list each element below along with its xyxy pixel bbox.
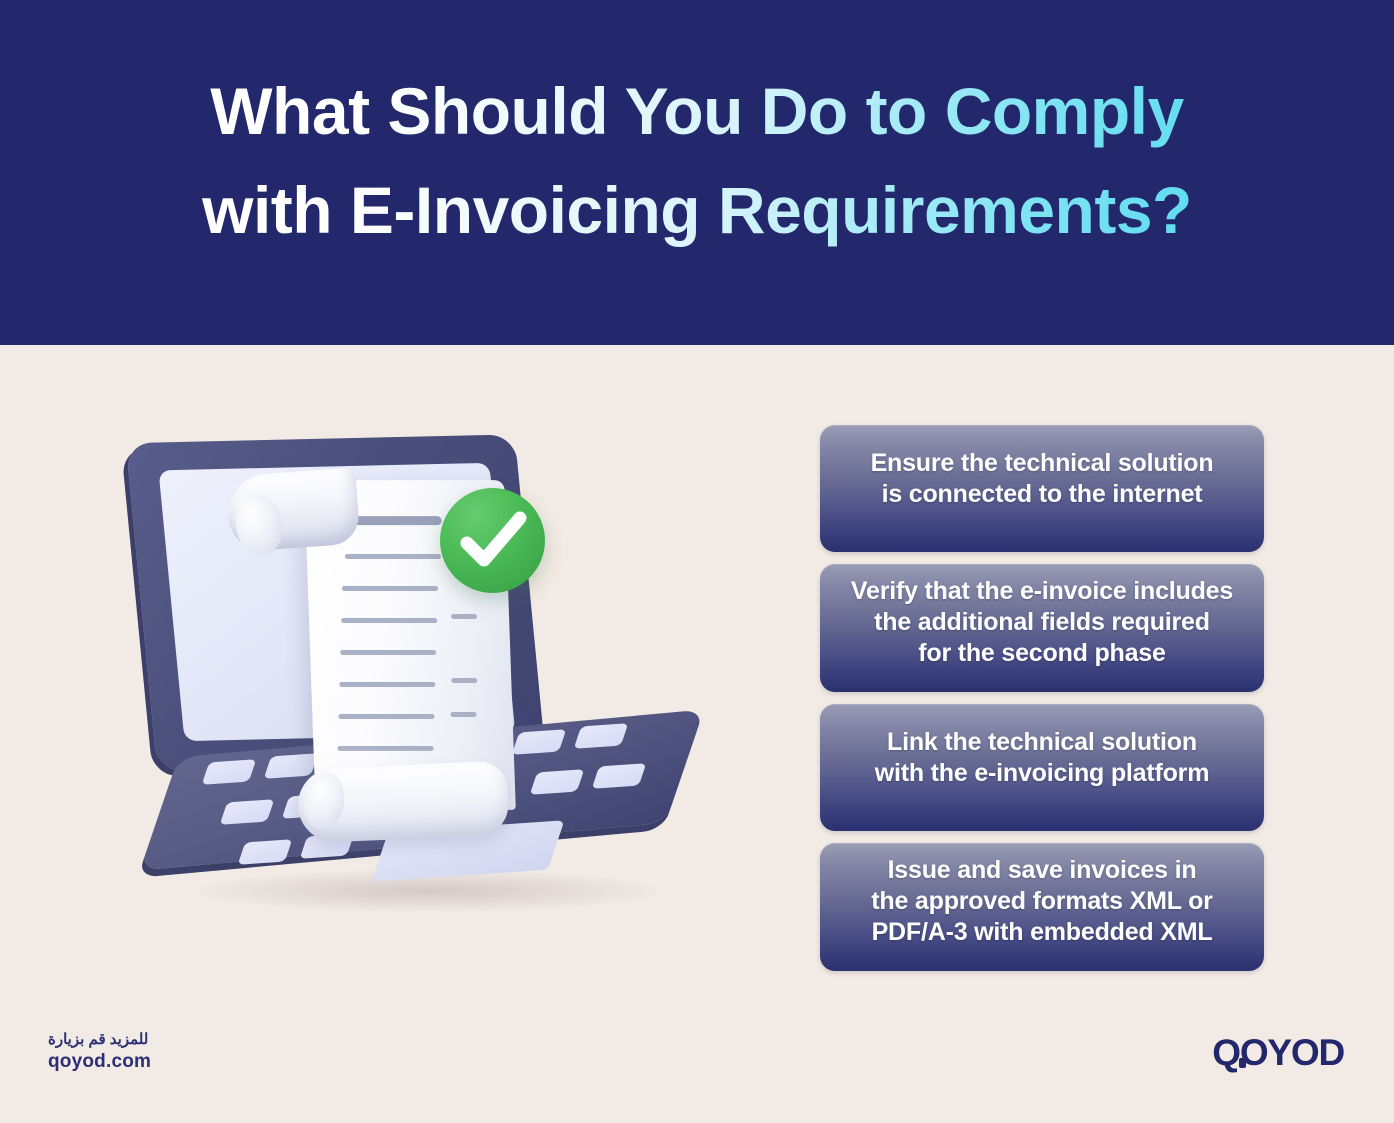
qoyod-logo-text: QOYOD	[1212, 1032, 1344, 1074]
check-mark-icon	[440, 488, 545, 593]
invoice-line	[340, 650, 436, 655]
qoyod-logo: QOYOD	[1212, 1032, 1344, 1074]
step-card-4[interactable]: Issue and save invoices in the approved …	[820, 843, 1264, 971]
invoice-line	[353, 516, 441, 525]
step-card-3-label: Link the technical solution with the e-i…	[859, 727, 1225, 789]
invoice-line	[345, 554, 441, 559]
invoice-line	[451, 614, 477, 619]
invoice-line	[337, 746, 433, 751]
step-card-4-label: Issue and save invoices in the approved …	[855, 855, 1228, 948]
qoyod-logo-mark	[1239, 1058, 1246, 1068]
step-card-3[interactable]: Link the technical solution with the e-i…	[820, 704, 1264, 831]
invoice-line	[338, 714, 434, 719]
keyboard-key	[238, 839, 293, 865]
laptop-invoice-illustration	[120, 420, 740, 960]
invoice-line	[451, 678, 477, 683]
invoice-line	[341, 618, 437, 623]
steps-list: Ensure the technical solution is connect…	[820, 425, 1264, 983]
invoice-line	[339, 682, 435, 687]
footer-visit-note: للمزيد قم بزيارة qoyod.com	[48, 1030, 151, 1073]
invoice-line	[450, 712, 476, 717]
footer-arabic-note: للمزيد قم بزيارة	[48, 1030, 151, 1048]
page-title: What Should You Do to Comply with E-Invo…	[0, 62, 1394, 260]
step-card-1[interactable]: Ensure the technical solution is connect…	[820, 425, 1264, 552]
footer-website-url[interactable]: qoyod.com	[48, 1051, 151, 1073]
step-card-1-label: Ensure the technical solution is connect…	[855, 448, 1230, 510]
step-card-2[interactable]: Verify that the e-invoice includes the a…	[820, 564, 1264, 692]
invoice-line	[342, 586, 438, 591]
header-band: What Should You Do to Comply with E-Invo…	[0, 0, 1394, 345]
step-card-2-label: Verify that the e-invoice includes the a…	[835, 576, 1249, 669]
